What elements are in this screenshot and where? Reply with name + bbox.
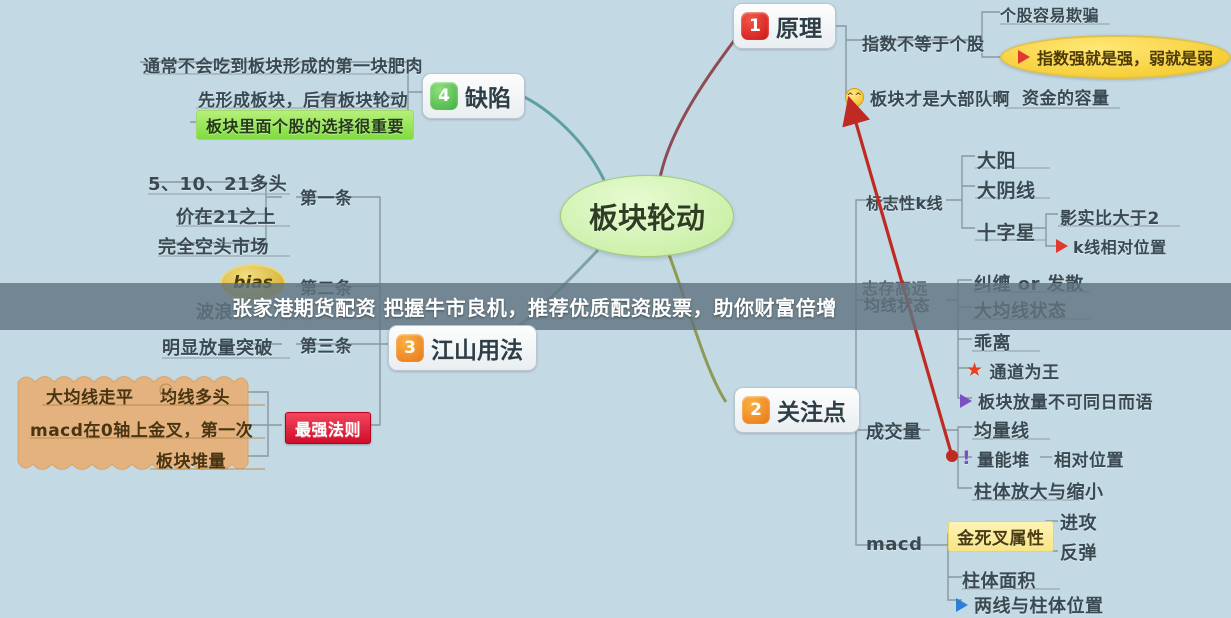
promo-banner-text: 张家港期货配资 把握牛市良机，推荐优质配资股票，助你财富倍增 — [232, 292, 837, 321]
branch-usage-label: 江山用法 — [431, 331, 523, 365]
promo-banner: 张家港期货配资 把握牛市良机，推荐优质配资股票，助你财富倍增 — [0, 283, 1231, 330]
branch-number-badge: 3 — [396, 334, 424, 362]
branch-usage[interactable]: 3 江山用法 — [388, 325, 537, 371]
